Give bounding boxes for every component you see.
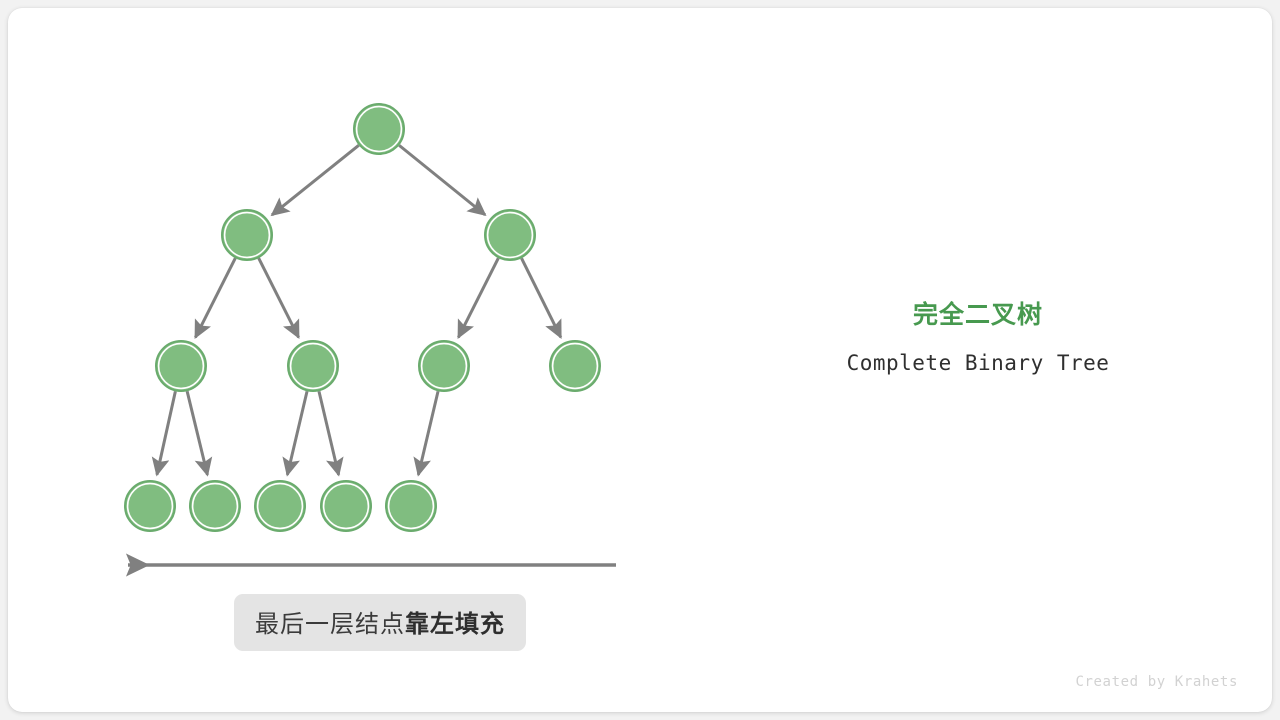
tree-edge xyxy=(458,258,498,337)
note-text-bold: 靠左填充 xyxy=(405,611,505,638)
tree-edge xyxy=(399,145,485,215)
tree-edge xyxy=(319,391,339,475)
tree-node[interactable] xyxy=(190,481,240,531)
tree-node-circle xyxy=(222,210,272,260)
note-text-normal: 最后一层结点 xyxy=(255,611,405,638)
tree-node-circle xyxy=(485,210,535,260)
tree-node[interactable] xyxy=(255,481,305,531)
screenshot-stage: 完全二叉树 Complete Binary Tree 最后一层结点靠左填充 Cr… xyxy=(0,0,1280,720)
tree-node[interactable] xyxy=(550,341,600,391)
watermark-credit: Created by Krahets xyxy=(1075,674,1238,690)
tree-edge xyxy=(187,391,207,475)
tree-edge xyxy=(195,258,235,337)
tree-node[interactable] xyxy=(321,481,371,531)
tree-edge xyxy=(272,145,359,215)
tree-node-circle xyxy=(255,481,305,531)
tree-edge-layer xyxy=(157,145,561,475)
tree-edge xyxy=(418,391,438,475)
diagram-title: 完全二叉树 xyxy=(768,298,1188,332)
tree-node-circle xyxy=(125,481,175,531)
tree-node-layer xyxy=(125,104,600,531)
tree-node[interactable] xyxy=(354,104,404,154)
tree-node-circle xyxy=(550,341,600,391)
tree-node-circle xyxy=(419,341,469,391)
diagram-subtitle: Complete Binary Tree xyxy=(768,348,1188,378)
tree-node-circle xyxy=(354,104,404,154)
tree-node-circle xyxy=(321,481,371,531)
tree-edge xyxy=(522,258,561,337)
tree-node[interactable] xyxy=(386,481,436,531)
tree-edge xyxy=(157,391,175,474)
tree-node-circle xyxy=(190,481,240,531)
tree-node[interactable] xyxy=(288,341,338,391)
last-level-note-badge: 最后一层结点靠左填充 xyxy=(234,594,526,651)
diagram-card: 完全二叉树 Complete Binary Tree 最后一层结点靠左填充 Cr… xyxy=(8,8,1272,712)
tree-edge xyxy=(287,391,307,475)
tree-edge xyxy=(259,258,299,337)
tree-node[interactable] xyxy=(125,481,175,531)
tree-node-circle xyxy=(386,481,436,531)
tree-node[interactable] xyxy=(419,341,469,391)
tree-node[interactable] xyxy=(485,210,535,260)
tree-node-circle xyxy=(288,341,338,391)
tree-node[interactable] xyxy=(156,341,206,391)
tree-node[interactable] xyxy=(222,210,272,260)
caption-block: 完全二叉树 Complete Binary Tree xyxy=(768,298,1188,378)
tree-node-circle xyxy=(156,341,206,391)
